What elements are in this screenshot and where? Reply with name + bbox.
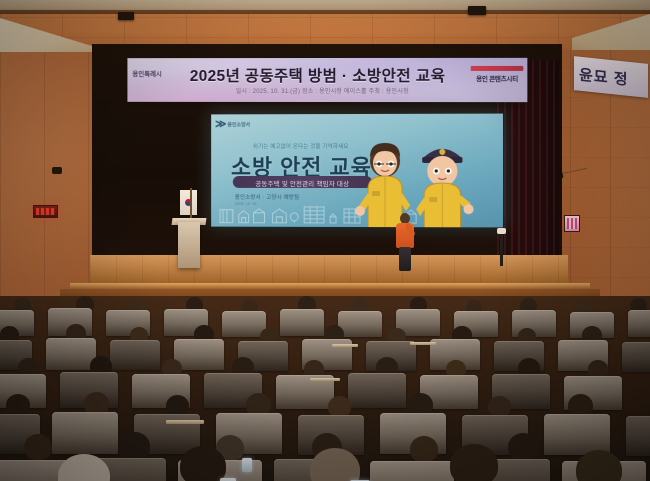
attendee-head	[508, 433, 538, 461]
firefighter-mascot-male-icon	[408, 137, 477, 228]
stage-floor	[90, 255, 568, 285]
attendee-head	[576, 450, 622, 481]
exit-sign-right-icon	[564, 215, 580, 232]
microphone-stand-icon	[500, 232, 503, 266]
banner-title: 2025년 공동주택 방범 · 소방안전 교육	[173, 64, 463, 86]
auditorium-photo: 윤묘 정 용인특례시 2025년 공동주택 방범 · 소방안전 교육 일시 : …	[0, 0, 650, 481]
auditorium-seat	[46, 338, 96, 370]
right-wall-placard-text: 윤묘 정	[579, 64, 629, 90]
seat-tray	[332, 344, 358, 347]
banner-subtitle: 일시 : 2025. 10. 31.(금) 장소 : 용인시청 에이스홀 주최 …	[173, 86, 473, 95]
audience-area	[0, 296, 650, 481]
seat-tray	[166, 420, 204, 424]
screen-org-logo: ≫ 용인소방서	[215, 119, 250, 130]
attendee-head	[24, 434, 52, 460]
attendee-head	[180, 446, 226, 481]
auditorium-seat	[622, 342, 650, 372]
auditorium-seat	[338, 311, 382, 337]
korean-flag-icon	[180, 190, 197, 215]
attendee-head	[488, 396, 511, 417]
seat-tray	[410, 342, 436, 345]
screen-org-label: 용인소방서	[227, 121, 250, 128]
seat-tray	[310, 378, 340, 381]
auditorium-seat	[544, 414, 610, 455]
banner-logo-right: 용인 콘텐츠시티	[471, 66, 524, 83]
podium	[178, 222, 200, 268]
auditorium-seat	[52, 412, 118, 454]
banner-logo-right-text: 용인 콘텐츠시티	[471, 73, 524, 83]
wall-lamp-icon	[52, 167, 62, 174]
mobile-phone-screen	[242, 458, 252, 472]
attendee-head	[450, 444, 498, 481]
banner-logo-left: 용인특례시	[132, 71, 170, 78]
screen-footer-text: 용인소방서 · 고양시 예방팀	[235, 193, 299, 201]
ceiling-speaker-icon	[118, 12, 134, 20]
event-banner: 용인특례시 2025년 공동주택 방범 · 소방안전 교육 일시 : 2025.…	[127, 58, 527, 102]
presenter-legs	[399, 247, 411, 271]
attendee-head	[328, 396, 351, 417]
auditorium-seat	[348, 373, 406, 408]
projection-screen: ≫ 용인소방서 위기는 예고없이 온다는 것을 기억하세요 소방 안전 교육 공…	[211, 114, 503, 228]
chevron-logo-icon: ≫	[215, 119, 224, 130]
attendee-head	[166, 395, 189, 416]
auditorium-seat	[280, 309, 324, 336]
attendee-head	[6, 394, 30, 416]
screen-kicker-text: 위기는 예고없이 온다는 것을 기억하세요	[229, 142, 373, 150]
presenter	[396, 213, 414, 271]
attendee-head	[120, 432, 150, 460]
auditorium-seat	[110, 340, 160, 370]
attendee-head	[410, 436, 438, 462]
auditorium-seat	[628, 310, 650, 337]
auditorium-seat	[626, 416, 650, 456]
banner-logo-bar	[471, 66, 524, 71]
ceiling-speaker-icon	[468, 6, 486, 15]
exit-sign-left-icon	[33, 205, 58, 218]
screen-subtitle-pill: 공동주택 및 안전관리 책임자 대상	[233, 176, 372, 188]
auditorium-seat	[370, 461, 454, 481]
screen-subtitle-text: 공동주택 및 안전관리 책임자 대상	[233, 178, 372, 188]
